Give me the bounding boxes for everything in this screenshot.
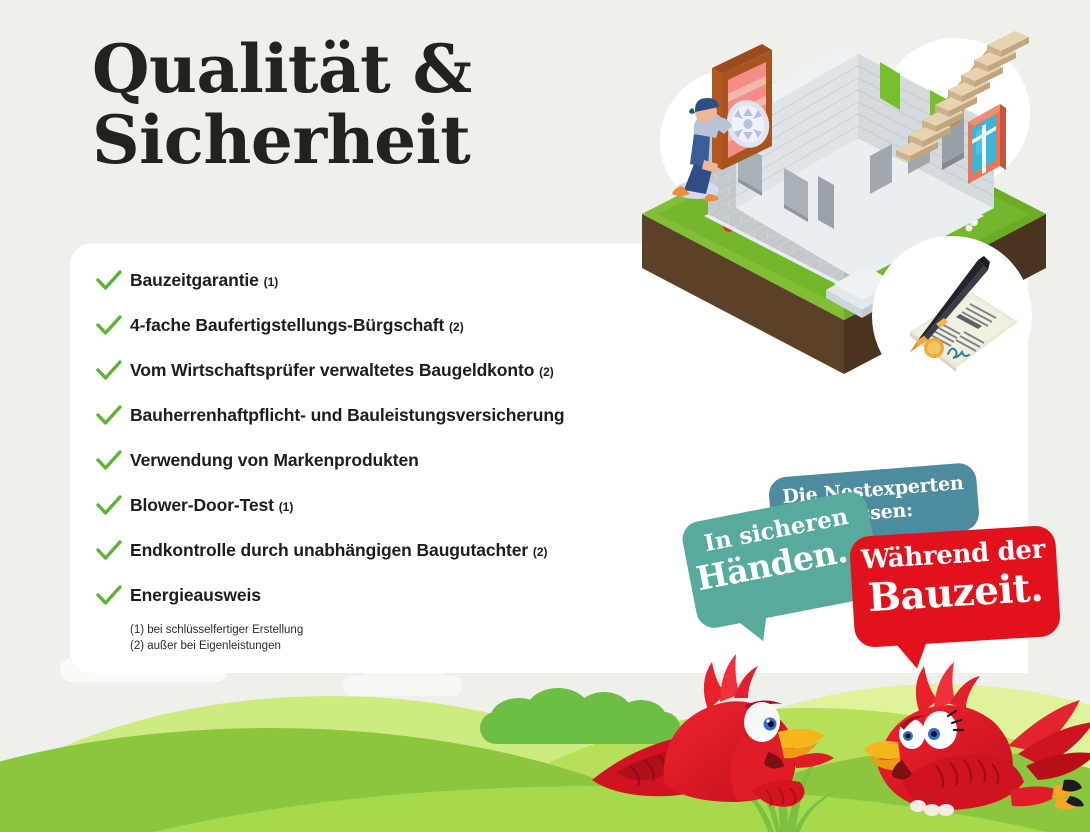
list-item-label: 4-fache Baufertigstellungs-Bürgschaft (2… xyxy=(130,313,464,338)
contract-illustration xyxy=(872,236,1032,396)
list-item-label: Bauherrenhaftpflicht- und Bauleistungsve… xyxy=(130,403,565,428)
infographic-root: Qualität & Sicherheit Bauzeitgarantie (1… xyxy=(0,0,1090,832)
page-title-line2: Sicherheit xyxy=(92,105,692,176)
list-item: Blower-Door-Test (1) xyxy=(96,493,696,538)
list-item: Vom Wirtschaftsprüfer verwaltetes Baugel… xyxy=(96,358,696,403)
list-item-label: Verwendung von Markenprodukten xyxy=(130,448,419,473)
check-icon xyxy=(96,538,130,562)
check-icon xyxy=(96,358,130,382)
blower-door-illustration xyxy=(660,38,830,228)
staircase-window-illustration xyxy=(880,26,1050,201)
bubble-text: Während der Bauzeit. xyxy=(849,525,1060,621)
check-icon xyxy=(96,313,130,337)
house-illustration xyxy=(612,18,1090,418)
list-item: Bauzeitgarantie (1) xyxy=(96,268,696,313)
check-icon xyxy=(96,268,130,292)
checklist: Bauzeitgarantie (1) 4-fache Baufertigste… xyxy=(96,268,696,628)
bird-right xyxy=(858,650,1090,830)
footnote-2: (2) außer bei Eigenleistungen xyxy=(130,638,303,654)
footnote-1: (1) bei schlüsselfertiger Erstellung xyxy=(130,622,303,638)
footnotes: (1) bei schlüsselfertiger Erstellung (2)… xyxy=(130,622,303,654)
check-icon xyxy=(96,403,130,427)
check-icon xyxy=(96,448,130,472)
check-icon xyxy=(96,493,130,517)
list-item: Verwendung von Markenprodukten xyxy=(96,448,696,493)
list-item-label: Bauzeitgarantie (1) xyxy=(130,268,278,293)
window-icon xyxy=(968,104,1006,184)
list-item-label: Endkontrolle durch unabhängigen Baugutac… xyxy=(130,538,548,563)
list-item: 4-fache Baufertigstellungs-Bürgschaft (2… xyxy=(96,313,696,358)
list-item: Endkontrolle durch unabhängigen Baugutac… xyxy=(96,538,696,583)
check-icon xyxy=(96,583,130,607)
bubble-waehrend-der-bauzeit: Während der Bauzeit. xyxy=(849,525,1061,648)
bird-left xyxy=(586,640,866,825)
list-item-label: Vom Wirtschaftsprüfer verwaltetes Baugel… xyxy=(130,358,554,383)
page-title: Qualität & Sicherheit xyxy=(92,34,692,177)
seal-icon xyxy=(924,338,944,358)
list-item-label: Blower-Door-Test (1) xyxy=(130,493,293,518)
list-item: Bauherrenhaftpflicht- und Bauleistungsve… xyxy=(96,403,696,448)
page-title-line1: Qualität & xyxy=(92,30,472,108)
list-item-label: Energieausweis xyxy=(130,583,261,608)
